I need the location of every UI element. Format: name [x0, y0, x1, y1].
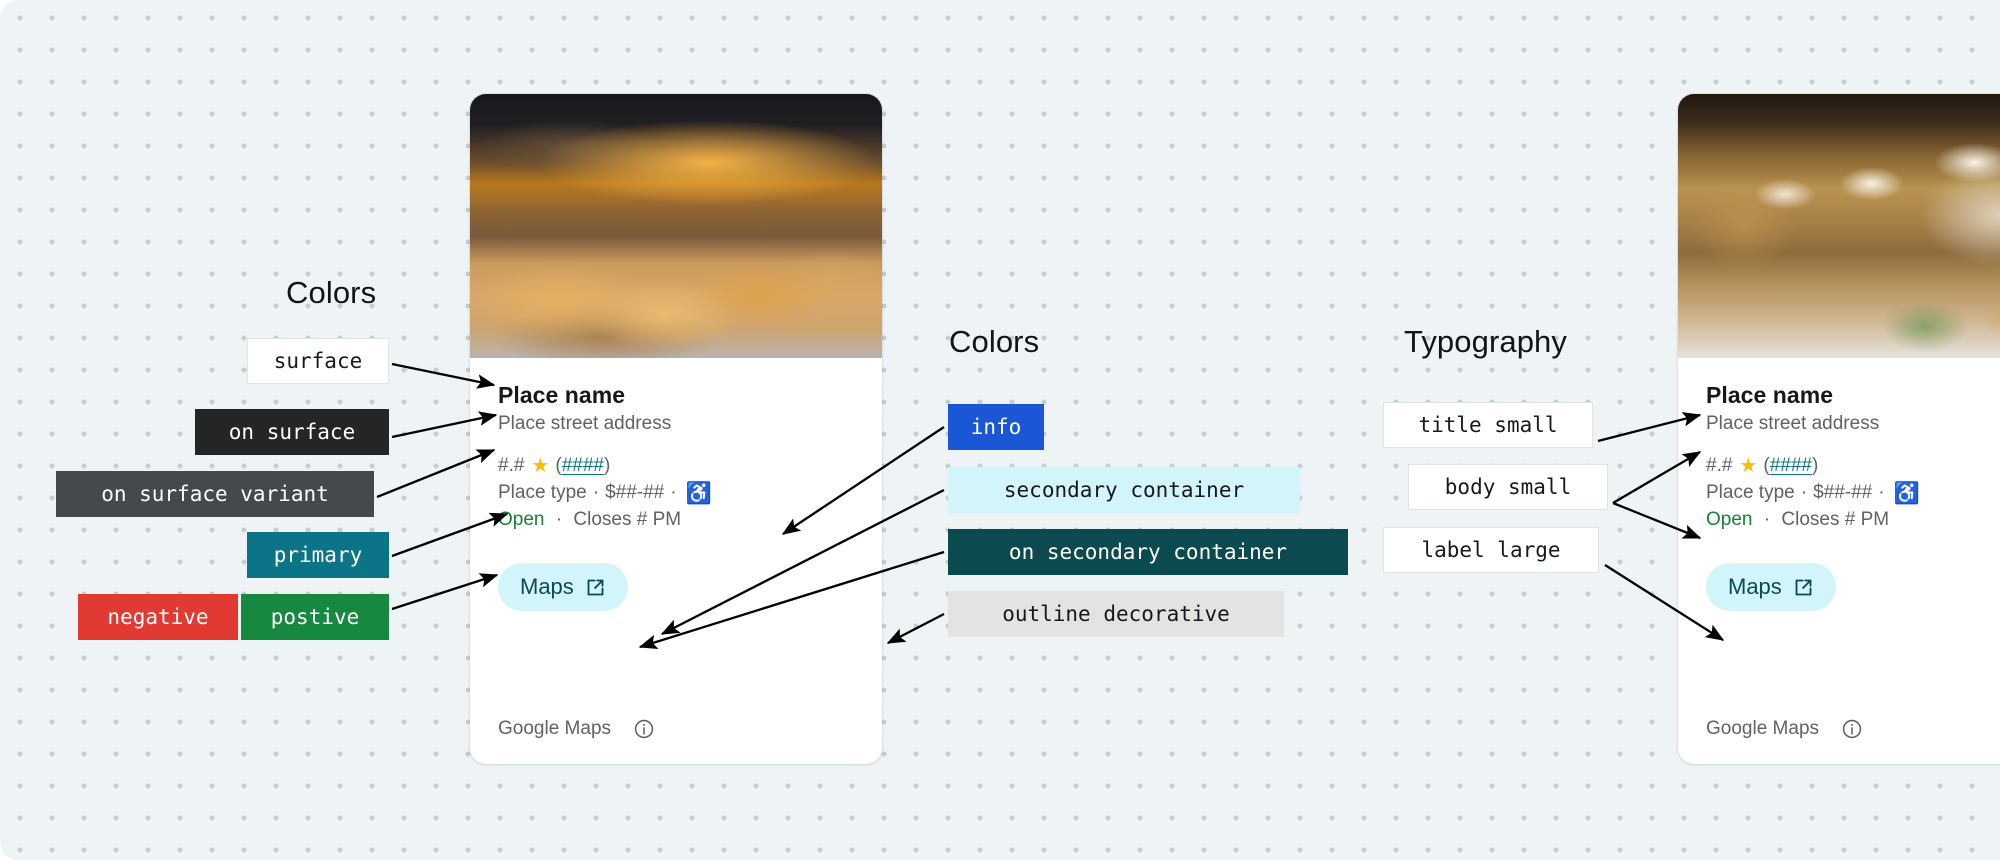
color-token-on-surface-variant[interactable]: on surface variant — [56, 471, 374, 517]
place-rating-row: #.# ★ ( #### ) — [498, 455, 854, 477]
place-rating-row-right: #.# ★ ( #### ) — [1706, 455, 2000, 477]
place-type: Place type — [498, 482, 587, 504]
place-address: Place street address — [498, 413, 854, 435]
color-token-on-secondary-container[interactable]: on secondary container — [948, 529, 1348, 575]
review-count-link[interactable]: #### — [562, 455, 604, 477]
closing-time-right: Closes # PM — [1781, 509, 1889, 530]
rating-value-right: #.# — [1706, 455, 1732, 477]
color-token-info[interactable]: info — [948, 404, 1044, 450]
typography-token-label-large[interactable]: label large — [1383, 527, 1599, 573]
price-range: $##-## — [605, 482, 664, 504]
maps-button-right[interactable]: Maps — [1706, 563, 1836, 611]
place-hours-row: Open · Closes # PM — [498, 509, 854, 531]
star-icon: ★ — [531, 456, 549, 476]
closing-time: Closes # PM — [573, 509, 681, 530]
screenshot-root: Colors Colors Typography surface on surf… — [0, 0, 2000, 860]
photo-image-bakery — [470, 94, 882, 358]
separator-dot-2: · — [670, 482, 676, 504]
open-status: Open — [498, 509, 544, 530]
place-type-row: Place type · $##-## · ♿ — [498, 482, 854, 504]
typography-token-title-small[interactable]: title small — [1383, 402, 1593, 448]
separator-dot-3: · — [556, 509, 562, 530]
separator-dot-2-right: · — [1878, 482, 1884, 504]
place-name: Place name — [498, 382, 854, 409]
place-photo-bakery — [470, 94, 882, 358]
card-footer-right: Google Maps — [1706, 718, 1863, 740]
section-heading-colors-middle: Colors — [949, 324, 1039, 360]
color-token-secondary-container[interactable]: secondary container — [948, 467, 1300, 513]
maps-button-label-right: Maps — [1728, 576, 1782, 598]
info-circle-icon-right[interactable] — [1841, 718, 1863, 740]
wheelchair-icon: ♿ — [686, 483, 712, 504]
color-token-outline-decorative[interactable]: outline decorative — [948, 591, 1284, 637]
place-card-body: Place name Place street address #.# ★ ( … — [470, 358, 882, 611]
footer-attribution: Google Maps — [498, 718, 611, 740]
place-photo-cafe — [1678, 94, 2000, 358]
separator-dot-1-right: · — [1801, 482, 1807, 504]
card-footer: Google Maps — [498, 718, 655, 740]
place-type-row-right: Place type · $##-## · ♿ — [1706, 482, 2000, 504]
place-card-right: Place name Place street address #.# ★ ( … — [1678, 94, 2000, 764]
color-token-negative[interactable]: negative — [78, 594, 238, 640]
info-circle-icon[interactable] — [633, 718, 655, 740]
paren-close: ) — [604, 455, 610, 477]
photo-image-cafe — [1678, 94, 2000, 358]
place-card-left: Place name Place street address #.# ★ ( … — [470, 94, 882, 764]
color-token-on-surface[interactable]: on surface — [195, 409, 389, 455]
color-token-primary[interactable]: primary — [247, 532, 389, 578]
price-range-right: $##-## — [1813, 482, 1872, 504]
open-status-right: Open — [1706, 509, 1752, 530]
place-name-right: Place name — [1706, 382, 2000, 409]
place-type-right: Place type — [1706, 482, 1795, 504]
separator-dot-3-right: · — [1764, 509, 1770, 530]
rating-value: #.# — [498, 455, 524, 477]
wheelchair-icon-right: ♿ — [1894, 483, 1920, 504]
external-link-icon — [585, 577, 606, 598]
typography-token-body-small[interactable]: body small — [1408, 464, 1608, 510]
color-token-surface[interactable]: surface — [247, 338, 389, 384]
place-hours-row-right: Open · Closes # PM — [1706, 509, 2000, 531]
color-token-postive[interactable]: postive — [241, 594, 389, 640]
section-heading-typography: Typography — [1404, 324, 1567, 360]
star-icon-right: ★ — [1739, 456, 1757, 476]
place-card-body-right: Place name Place street address #.# ★ ( … — [1678, 358, 2000, 611]
footer-attribution-right: Google Maps — [1706, 718, 1819, 740]
external-link-icon-right — [1793, 577, 1814, 598]
review-count-link-right[interactable]: #### — [1770, 455, 1812, 477]
paren-close-right: ) — [1812, 455, 1818, 477]
separator-dot-1: · — [593, 482, 599, 504]
maps-button-label: Maps — [520, 576, 574, 598]
maps-button[interactable]: Maps — [498, 563, 628, 611]
place-address-right: Place street address — [1706, 413, 2000, 435]
section-heading-colors-left: Colors — [286, 275, 376, 311]
